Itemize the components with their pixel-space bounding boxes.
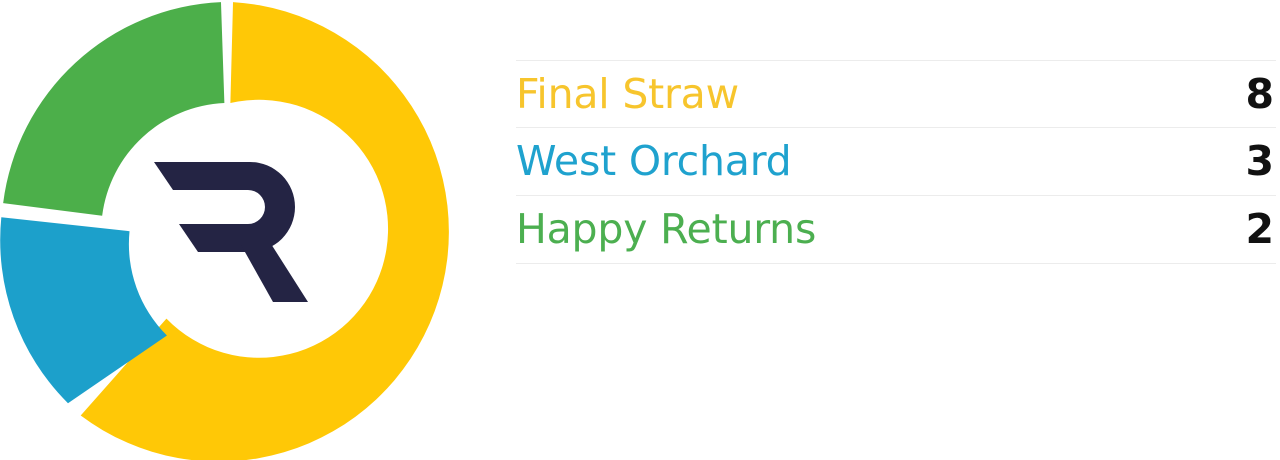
legend-value-happy-returns: 2: [1245, 209, 1276, 250]
legend-row[interactable]: West Orchard 3: [516, 128, 1276, 196]
legend-row[interactable]: Happy Returns 2: [516, 196, 1276, 264]
legend-value-final-straw: 8: [1245, 74, 1276, 115]
chart-page: Final Straw 8 West Orchard 3 Happy Retur…: [0, 0, 1280, 460]
legend-value-west-orchard: 3: [1245, 141, 1276, 182]
legend-row[interactable]: Final Straw 8: [516, 60, 1276, 128]
brand-r-logo-icon: [140, 150, 315, 310]
legend-label-happy-returns: Happy Returns: [516, 209, 816, 250]
legend-label-west-orchard: West Orchard: [516, 141, 791, 182]
donut-chart: [0, 0, 470, 460]
chart-legend: Final Straw 8 West Orchard 3 Happy Retur…: [516, 60, 1276, 264]
legend-label-final-straw: Final Straw: [516, 74, 739, 115]
